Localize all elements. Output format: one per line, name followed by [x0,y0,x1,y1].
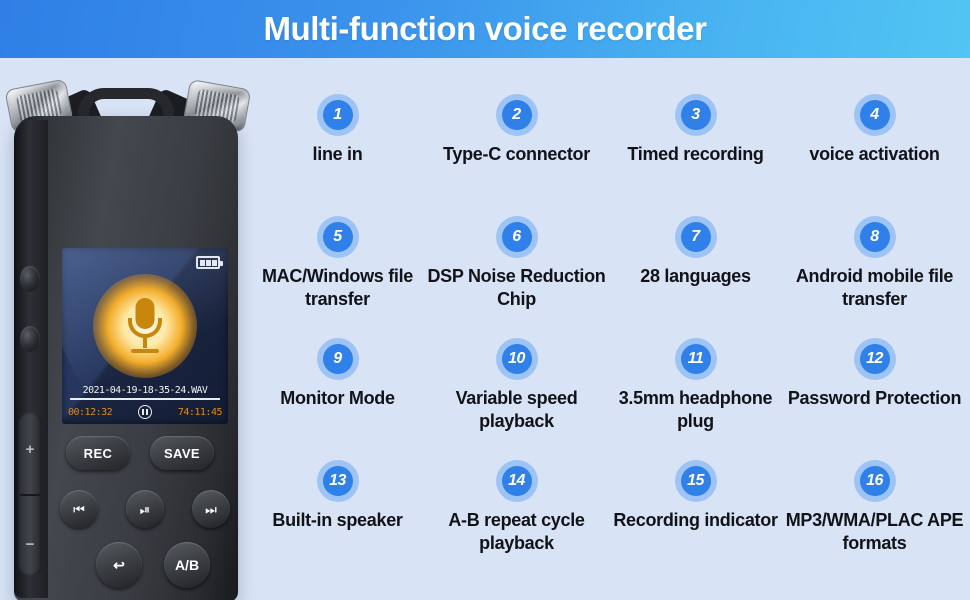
feature-item: 6DSP Noise Reduction Chip [427,212,606,334]
pause-icon [138,405,152,419]
feature-badge: 2 [496,94,538,136]
feature-badge-circle: 15 [681,466,711,496]
feature-badge-circle: 6 [502,222,532,252]
feature-item: 2Type-C connector [427,90,606,212]
headphone-port [20,326,40,352]
feature-badge: 11 [675,338,717,380]
device-body: + − 20 [14,116,238,600]
feature-number: 13 [329,473,346,489]
feature-label: voice activation [809,143,939,166]
feature-label: MP3/WMA/PLAC APE formats [785,509,964,554]
feature-badge: 1 [317,94,359,136]
feature-label: Timed recording [627,143,763,166]
feature-badge-circle: 10 [502,344,532,374]
ab-repeat-button[interactable]: A/B [164,542,210,588]
feature-item: 9Monitor Mode [248,334,427,456]
feature-number: 11 [688,351,704,367]
screen-time-row: 00:12:32 74:11:45 [68,405,222,419]
feature-badge: 5 [317,216,359,258]
feature-label: A-B repeat cycle playback [427,509,606,554]
battery-segment [206,260,211,266]
feature-item: 12Password Protection [785,334,964,456]
previous-track-button[interactable]: ⏮ [60,490,98,528]
feature-label: Password Protection [788,387,961,410]
feature-item: 3Timed recording [606,90,785,212]
feature-badge-circle: 14 [502,466,532,496]
feature-badge-circle: 7 [681,222,711,252]
feature-label: DSP Noise Reduction Chip [427,265,606,310]
feature-badge: 8 [854,216,896,258]
feature-badge: 16 [854,460,896,502]
feature-label: 3.5mm headphone plug [606,387,785,432]
feature-label: Built-in speaker [272,509,402,532]
screen-divider [70,398,220,400]
feature-label: Variable speed playback [427,387,606,432]
feature-badge: 7 [675,216,717,258]
feature-number: 16 [866,473,883,489]
feature-number: 12 [866,351,883,367]
microphone-icon-arc [128,318,162,338]
feature-badge: 13 [317,460,359,502]
page-header: Multi-function voice recorder [0,0,970,58]
play-pause-icon: ⏯ [140,503,150,516]
feature-badge-circle: 12 [860,344,890,374]
feature-badge-circle: 9 [323,344,353,374]
feature-item: 113.5mm headphone plug [606,334,785,456]
feature-badge: 15 [675,460,717,502]
rocker-divider [20,494,40,496]
feature-number: 10 [508,351,525,367]
volume-up-icon: + [18,442,42,457]
next-icon: ⏭ [205,503,217,516]
feature-badge-circle: 8 [860,222,890,252]
feature-badge-circle: 1 [323,100,353,130]
feature-badge-circle: 16 [860,466,890,496]
play-pause-button[interactable]: ⏯ [126,490,164,528]
feature-item: 8Android mobile file transfer [785,212,964,334]
feature-label: Recording indicator [613,509,777,532]
feature-label: line in [313,143,363,166]
ab-repeat-label: A/B [175,558,199,572]
feature-item: 15Recording indicator [606,456,785,578]
microphone-icon-base [131,349,159,353]
previous-icon: ⏮ [73,503,85,516]
feature-label: Android mobile file transfer [785,265,964,310]
feature-number: 1 [333,107,341,123]
feature-label: MAC/Windows file transfer [248,265,427,310]
battery-segment [200,260,205,266]
feature-number: 14 [508,473,525,489]
feature-badge-circle: 4 [860,100,890,130]
feature-number: 6 [512,229,520,245]
feature-badge-circle: 5 [323,222,353,252]
feature-badge: 12 [854,338,896,380]
back-arrow-icon: ↩ [113,558,125,572]
save-button[interactable]: SAVE [150,436,214,470]
volume-down-icon: − [18,537,42,552]
feature-badge-circle: 3 [681,100,711,130]
content-area: + − 20 [0,58,970,600]
page-title: Multi-function voice recorder [263,10,706,48]
feature-badge-circle: 2 [502,100,532,130]
feature-item: 13Built-in speaker [248,456,427,578]
battery-segment [212,260,217,266]
screen-filename: 2021-04-19-18-35-24.WAV [67,385,223,396]
feature-item: 16MP3/WMA/PLAC APE formats [785,456,964,578]
line-in-port [20,266,40,292]
next-track-button[interactable]: ⏭ [192,490,230,528]
feature-badge: 4 [854,94,896,136]
feature-number: 7 [691,229,699,245]
feature-badge: 9 [317,338,359,380]
device-screen: 2021-04-19-18-35-24.WAV 00:12:32 74:11:4… [62,248,228,424]
feature-item: 1line in [248,90,427,212]
feature-label: 28 languages [640,265,750,288]
feature-badge: 14 [496,460,538,502]
feature-item: 14A-B repeat cycle playback [427,456,606,578]
feature-number: 8 [870,229,878,245]
rec-button[interactable]: REC [66,436,130,470]
feature-item: 5MAC/Windows file transfer [248,212,427,334]
back-button[interactable]: ↩ [96,542,142,588]
volume-rocker[interactable]: + − [18,412,42,576]
device-button-panel: REC SAVE ⏮ ⏯ ⏭ ↩ A/B [54,434,236,594]
device-side-edge: + − [14,120,48,598]
feature-badge-circle: 13 [323,466,353,496]
feature-grid: 1line in2Type-C connector3Timed recordin… [248,90,964,578]
feature-badge: 6 [496,216,538,258]
feature-item: 4voice activation [785,90,964,212]
feature-item: 728 languages [606,212,785,334]
product-image-voice-recorder: + − 20 [0,70,250,600]
feature-badge-circle: 11 [681,344,711,374]
feature-number: 2 [512,107,520,123]
microphone-icon [122,298,168,354]
battery-icon [196,256,220,269]
screen-elapsed-time: 00:12:32 [68,407,112,418]
feature-badge: 3 [675,94,717,136]
feature-label: Monitor Mode [280,387,394,410]
feature-number: 3 [691,107,699,123]
feature-number: 9 [333,351,341,367]
microphone-icon-stem [143,337,147,348]
feature-number: 5 [333,229,341,245]
feature-label: Type-C connector [443,143,590,166]
feature-number: 15 [687,473,704,489]
feature-number: 4 [870,107,878,123]
feature-badge: 10 [496,338,538,380]
feature-item: 10Variable speed playback [427,334,606,456]
screen-remaining-time: 74:11:45 [178,407,222,418]
